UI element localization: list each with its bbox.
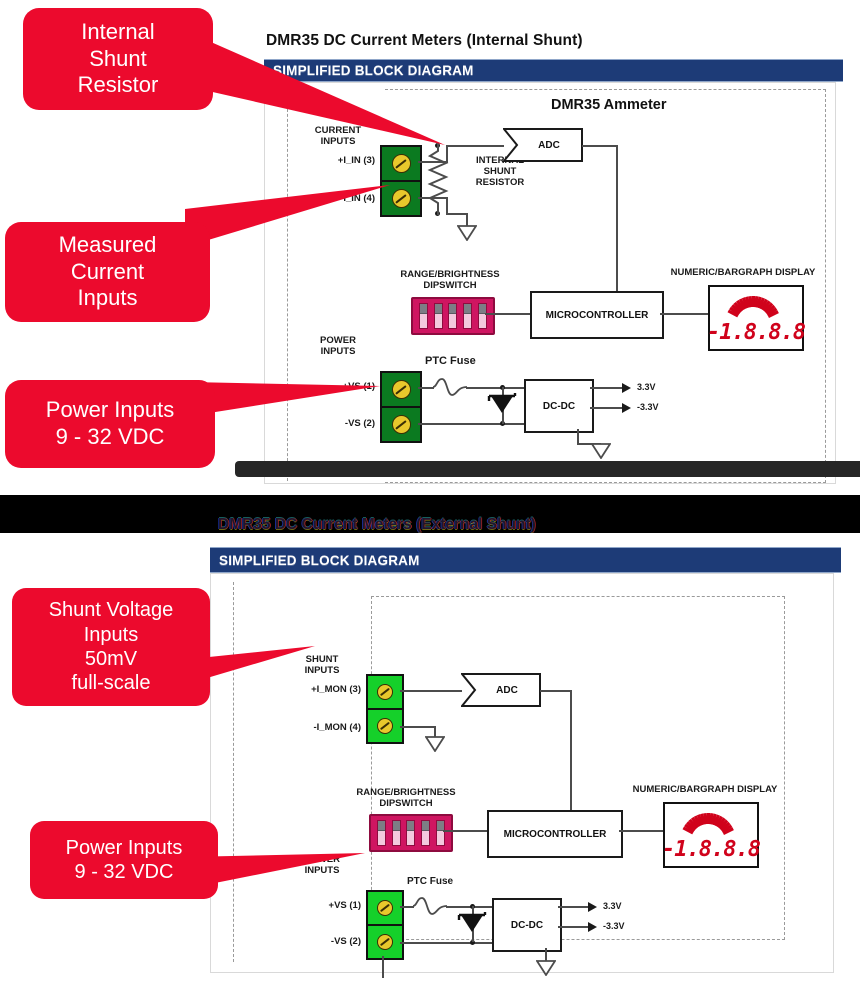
terminal-screw-cell-4[interactable]: [368, 708, 402, 742]
ptc-fuse-icon-external: [413, 896, 447, 921]
arrow-icon-rail1-external: [588, 902, 597, 912]
dipswitch-label-line1: RANGE/BRIGHTNESS: [331, 787, 481, 798]
adc-label: ADC: [503, 127, 583, 163]
dipswitch-label-line1: RANGE/BRIGHTNESS: [375, 269, 525, 280]
wire-adc-out-external: [540, 690, 572, 692]
dip-switch-2[interactable]: [434, 303, 443, 329]
dipswitch-label-line2: DIPSWITCH: [331, 798, 481, 809]
callout-measured-current-inputs: Measured Current Inputs: [5, 222, 210, 322]
terminal-screw-cell-3[interactable]: [368, 676, 402, 708]
display-value: -1.8.8.8: [662, 839, 760, 861]
wire-rail-33: [590, 387, 624, 389]
terminal-screw-cell-2[interactable]: [368, 924, 402, 958]
page-title-external-shunt: DMR35 DC Current Meters (External Shunt): [218, 516, 536, 534]
section-header-bar-external: SIMPLIFIED BLOCK DIAGRAM: [210, 547, 841, 573]
callout-line-2: 9 - 32 VDC: [46, 424, 174, 451]
ground-symbol-icon: [457, 225, 477, 246]
adc-label: ADC: [461, 672, 541, 708]
adc-block-external: ADC: [461, 672, 541, 713]
callout-line-4: full-scale: [49, 671, 174, 695]
wire-vs1-a: [418, 387, 434, 389]
callout-line-2: Current: [59, 259, 157, 286]
rail-label-neg3v3: -3.3V: [637, 402, 659, 413]
wire-vs1-b-external: [446, 906, 492, 908]
zener-diode-icon-external: [457, 912, 487, 943]
zener-diode-icon: [487, 393, 517, 424]
wire-adc-to-mcu: [616, 145, 618, 293]
callout-power-inputs-internal: Power Inputs 9 - 32 VDC: [5, 380, 215, 468]
dip-switch-4[interactable]: [463, 303, 472, 329]
adc-block: ADC: [503, 127, 583, 168]
wire-mcu-to-display-external: [619, 830, 663, 832]
dipswitch-label-external: RANGE/BRIGHTNESS DIPSWITCH: [331, 787, 481, 809]
callout-line-1: Power Inputs: [66, 836, 183, 860]
rail-label-3v3: 3.3V: [637, 382, 656, 393]
diagram-frame-external: SHUNT INPUTS +I_MON (3) -I_MON (4) ADC: [210, 573, 834, 973]
callout-power-inputs-external: Power Inputs 9 - 32 VDC: [30, 821, 218, 899]
dipswitch-label-internal: RANGE/BRIGHTNESS DIPSWITCH: [375, 269, 525, 291]
screw-icon: [377, 900, 393, 916]
bargraph-icon: [710, 292, 802, 321]
callout-line-2: 9 - 32 VDC: [66, 860, 183, 884]
ground-symbol-icon-shunt: [425, 736, 445, 757]
wire-vs1-b: [466, 387, 524, 389]
wire-dip-to-mcu: [485, 313, 530, 315]
power-inputs-label-line2: INPUTS: [297, 346, 379, 357]
wire-adc-out: [582, 145, 618, 147]
arrow-icon-rail2: [622, 403, 631, 413]
numeric-bargraph-display-external: -1.8.8.8: [663, 802, 759, 868]
wire-imon3-to-adc: [400, 690, 462, 692]
range-brightness-dipswitch[interactable]: [411, 297, 495, 335]
terminal-label-vs-2-external: -VS (2): [231, 936, 361, 947]
display-value: -1.8.8.8: [707, 322, 805, 344]
shunt-input-terminal-block[interactable]: [366, 674, 404, 744]
wire-adc-to-mcu-external: [570, 690, 572, 814]
panel-external-shunt: SIMPLIFIED BLOCK DIAGRAM SHUNT INPUTS +I…: [0, 533, 860, 986]
callout-line-3: Inputs: [59, 285, 157, 312]
display-label-external: NUMERIC/BARGRAPH DISPLAY: [611, 784, 799, 795]
microcontroller-block: MICROCONTROLLER: [530, 291, 664, 339]
wire-rail-33-external: [558, 906, 590, 908]
panel-internal-shunt: DMR35 DC Current Meters (Internal Shunt)…: [0, 0, 860, 495]
callout-internal-shunt-resistor: Internal Shunt Resistor: [23, 8, 213, 110]
rail-label-3v3-external: 3.3V: [603, 901, 622, 912]
ptc-fuse-label-internal: PTC Fuse: [425, 355, 476, 368]
callout-pointer-measured-current: [185, 185, 400, 265]
screw-icon: [377, 684, 393, 700]
dcdc-converter-block-internal: DC-DC: [524, 379, 594, 433]
microcontroller-block-external: MICROCONTROLLER: [487, 810, 623, 858]
dip-switch-4[interactable]: [421, 820, 430, 846]
ptc-fuse-label-external: PTC Fuse: [407, 876, 453, 888]
callout-line-1: Power Inputs: [46, 397, 174, 424]
shunt-label-line3: RESISTOR: [457, 177, 543, 188]
enclosure-title-internal: DMR35 Ammeter: [551, 97, 667, 113]
ground-symbol-icon-power-external: [536, 960, 556, 981]
wire-dip-to-mcu-external: [443, 830, 487, 832]
terminal-label-i-mon-4: -I_MON (4): [231, 722, 361, 733]
arrow-icon-rail2-external: [588, 922, 597, 932]
screw-icon: [392, 415, 411, 434]
range-brightness-dipswitch-external[interactable]: [369, 814, 453, 852]
callout-pointer-power-internal: [190, 368, 390, 438]
callout-line-3: Resistor: [78, 72, 159, 99]
dip-switch-2[interactable]: [392, 820, 401, 846]
arrow-icon-rail1: [622, 383, 631, 393]
callout-line-2: Shunt: [78, 46, 159, 73]
bottom-dark-bar: [235, 461, 860, 477]
screw-icon: [392, 380, 411, 399]
rail-label-neg3v3-external: -3.3V: [603, 921, 625, 932]
enclosure-boundary-external: [371, 596, 785, 940]
numeric-bargraph-display: -1.8.8.8: [708, 285, 804, 351]
power-inputs-label-line1: POWER: [297, 335, 379, 346]
screw-icon: [377, 934, 393, 950]
power-inputs-group-label-internal: POWER INPUTS: [297, 335, 379, 357]
dip-switch-5[interactable]: [436, 820, 445, 846]
bargraph-icon: [665, 809, 757, 838]
wire-mcu-to-display: [660, 313, 708, 315]
wire-adc-in: [482, 145, 504, 147]
callout-line-1: Measured: [59, 232, 157, 259]
screw-icon: [377, 718, 393, 734]
callout-shunt-voltage-inputs: Shunt Voltage Inputs 50mV full-scale: [12, 588, 210, 706]
dip-switch-3[interactable]: [448, 303, 457, 329]
dip-switch-1[interactable]: [377, 820, 386, 846]
dip-switch-3[interactable]: [406, 820, 415, 846]
callout-line-2: Inputs: [49, 623, 174, 647]
wire-vs1-a-external: [400, 906, 414, 908]
dcdc-converter-block-external: DC-DC: [492, 898, 562, 952]
callout-line-3: 50mV: [49, 647, 174, 671]
wire-rail-n33-external: [558, 926, 590, 928]
callout-line-1: Shunt Voltage: [49, 598, 174, 622]
wire-power-down-external: [382, 956, 384, 978]
callout-pointer-internal-shunt: [195, 20, 460, 165]
ptc-fuse-icon: [433, 377, 467, 402]
callout-line-1: Internal: [78, 19, 159, 46]
dipswitch-label-line2: DIPSWITCH: [375, 280, 525, 291]
wire-imon4-gnd-h: [400, 726, 436, 728]
dip-switch-5[interactable]: [478, 303, 487, 329]
dip-switch-1[interactable]: [419, 303, 428, 329]
wire-rail-n33: [590, 407, 624, 409]
display-label-internal: NUMERIC/BARGRAPH DISPLAY: [653, 267, 833, 278]
